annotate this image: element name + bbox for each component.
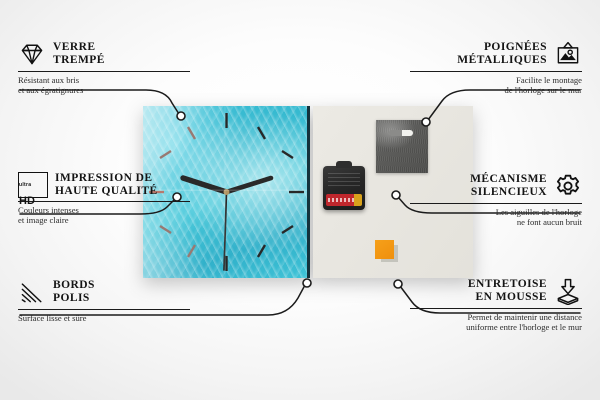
callout-desc-line1: Surface lisse et sûre <box>18 313 190 323</box>
callout-desc-line1: Couleurs intenses <box>18 205 190 215</box>
movement-hook <box>336 161 352 168</box>
diamond-icon <box>18 40 46 68</box>
callout-title-line1: ENTRETOISE <box>468 278 547 291</box>
callout-desc-line2: et aux égratignures <box>18 85 190 95</box>
hanging-frame-icon <box>554 40 582 68</box>
tick-4 <box>282 226 293 233</box>
callout-title-line2: HAUTE QUALITÉ <box>55 185 158 198</box>
callout-title-line2: EN MOUSSE <box>468 291 547 304</box>
callout-rule <box>18 71 190 72</box>
callout-bords-polis: BORDS POLIS Surface lisse et sûre <box>18 278 190 323</box>
movement-grille <box>328 173 360 187</box>
tick-1 <box>258 127 265 139</box>
callout-desc-line2: et image claire <box>18 215 190 225</box>
wire-node-entretoise <box>394 280 402 288</box>
press-down-pad-icon <box>554 277 582 305</box>
callout-title-line2: SILENCIEUX <box>470 186 547 199</box>
foam-spacer <box>375 240 394 259</box>
callout-rule <box>410 308 582 309</box>
infographic-canvas: VERRE TREMPÉ Résistant aux bris et aux é… <box>0 0 600 400</box>
callout-impression-haute-qualite: ultra HD IMPRESSION DE HAUTE QUALITÉ Cou… <box>18 172 190 226</box>
callout-title-line2: TREMPÉ <box>53 54 105 67</box>
wire-node-bords <box>303 279 311 287</box>
tick-8 <box>160 226 171 233</box>
callout-desc-line1: Permet de maintenir une distance <box>410 312 582 322</box>
callout-desc-line1: Les aiguilles de l'horloge <box>410 207 582 217</box>
gear-icon <box>554 172 582 200</box>
callout-title-line1: MÉCANISME <box>470 173 547 186</box>
callout-rule <box>410 71 582 72</box>
hand-cap <box>224 189 230 195</box>
ultra-hd-icon: ultra HD <box>18 172 48 198</box>
callout-title-line2: MÉTALLIQUES <box>457 54 547 67</box>
callout-rule <box>18 309 190 310</box>
battery-label <box>328 198 354 202</box>
callout-verre-trempe: VERRE TREMPÉ Résistant aux bris et aux é… <box>18 40 190 96</box>
callout-title-line1: BORDS <box>53 279 95 292</box>
ultra-hd-small-label: ultra <box>19 182 31 188</box>
tick-11 <box>188 127 195 139</box>
metal-hanger-plate <box>376 120 428 173</box>
callout-rule <box>18 201 190 202</box>
tick-2 <box>282 151 293 158</box>
callout-poignees-metalliques: POIGNÉES MÉTALLIQUES Facilite le montage… <box>410 40 582 96</box>
minute-hand <box>227 178 272 192</box>
polished-edge-icon <box>18 278 46 306</box>
callout-mecanisme-silencieux: MÉCANISME SILENCIEUX Les aiguilles de l'… <box>410 172 582 228</box>
callout-rule <box>410 203 582 204</box>
callout-title-line2: POLIS <box>53 292 95 305</box>
callout-desc-line1: Facilite le montage <box>410 75 582 85</box>
callout-desc-line2: uniforme entre l'horloge et le mur <box>410 322 582 332</box>
callout-title-line1: IMPRESSION DE <box>55 172 158 185</box>
second-hand <box>224 192 227 270</box>
tick-5 <box>258 245 265 257</box>
callout-entretoise-en-mousse: ENTRETOISE EN MOUSSE Permet de maintenir… <box>410 277 582 333</box>
tick-7 <box>188 245 195 257</box>
battery <box>326 194 362 206</box>
callout-title-line1: VERRE <box>53 41 105 54</box>
callout-desc-line2: de l'horloge sur le mur <box>410 85 582 95</box>
tick-10 <box>160 151 171 158</box>
callout-desc-line1: Résistant aux bris <box>18 75 190 85</box>
quartz-movement-box <box>323 166 365 210</box>
callout-title-line1: POIGNÉES <box>457 41 547 54</box>
callout-desc-line2: ne font aucun bruit <box>410 217 582 227</box>
hanger-slot <box>389 130 413 136</box>
